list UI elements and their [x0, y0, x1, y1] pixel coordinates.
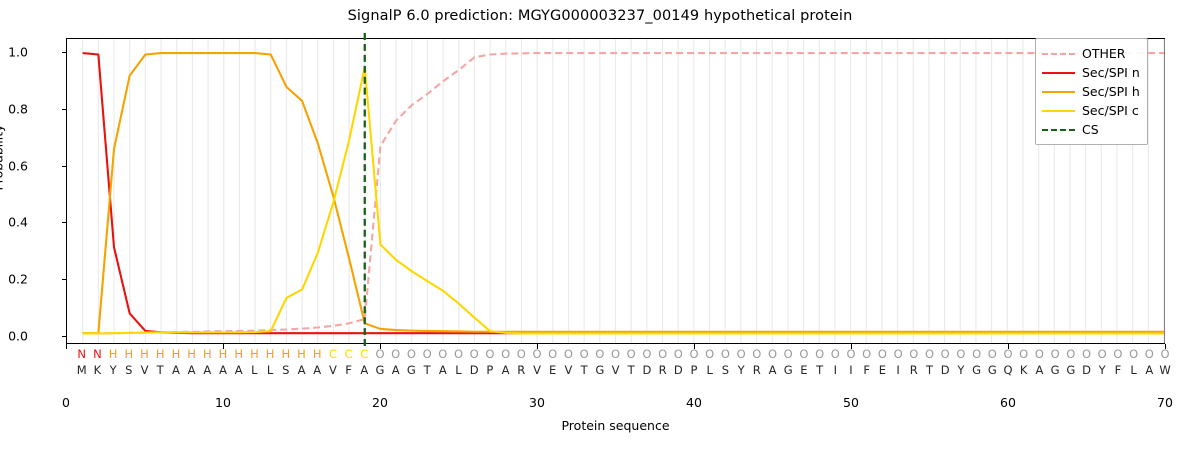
x-tick-label: 10 [215, 395, 231, 410]
region-marker: C [329, 347, 337, 361]
legend-label: CS [1082, 122, 1099, 137]
region-marker: N [77, 347, 86, 361]
y-tick-label: 0.6 [0, 158, 28, 173]
region-marker: O [705, 347, 714, 361]
amino-acid-sequence-row: MKYSVTAAAAALLSAAVFAGAGTALDPARVEVTGVTDRDP… [66, 363, 1165, 378]
sequence-residue: V [612, 363, 620, 377]
y-tick-label: 1.0 [0, 45, 28, 60]
sequence-residue: D [941, 363, 950, 377]
region-marker: O [391, 347, 400, 361]
sequence-residue: L [455, 363, 461, 377]
sequence-residue: Y [110, 363, 117, 377]
region-marker: O [721, 347, 730, 361]
legend-label: Sec/SPI n [1082, 65, 1140, 80]
series-line-sec-spi-c [83, 67, 1164, 333]
sequence-residue: K [94, 363, 102, 377]
legend-item-sec-spi-h[interactable]: Sec/SPI h [1042, 82, 1140, 101]
region-annotation-row: NNHHHHHHHHHHHHHHCCCOOOOOOOOOOOOOOOOOOOOO… [66, 347, 1165, 362]
series-line-sec-spi-h [83, 53, 1164, 333]
sequence-residue: G [972, 363, 981, 377]
region-marker: O [375, 347, 384, 361]
region-marker: O [768, 347, 777, 361]
sequence-residue: A [219, 363, 227, 377]
region-marker: O [564, 347, 573, 361]
sequence-residue: F [1115, 363, 1122, 377]
region-marker: O [1003, 347, 1012, 361]
sequence-residue: L [267, 363, 273, 377]
region-marker: O [470, 347, 479, 361]
sequence-residue: T [157, 363, 164, 377]
region-marker: O [485, 347, 494, 361]
region-marker: H [234, 347, 243, 361]
region-marker: H [281, 347, 290, 361]
signalp-prediction-figure: SignalP 6.0 prediction: MGYG000003237_00… [0, 0, 1200, 450]
sequence-residue: I [896, 363, 899, 377]
region-marker: O [956, 347, 965, 361]
region-marker: O [737, 347, 746, 361]
sequence-residue: A [392, 363, 400, 377]
sequence-residue: A [298, 363, 306, 377]
region-marker: O [972, 347, 981, 361]
y-tick-label: 0.2 [0, 271, 28, 286]
sequence-residue: T [926, 363, 933, 377]
y-tick-mark [62, 109, 67, 110]
sequence-residue: D [642, 363, 651, 377]
region-marker: H [187, 347, 196, 361]
sequence-residue: D [1082, 363, 1091, 377]
region-marker: O [689, 347, 698, 361]
sequence-residue: M [77, 363, 87, 377]
sequence-residue: A [172, 363, 180, 377]
region-marker: O [674, 347, 683, 361]
region-marker: O [988, 347, 997, 361]
y-tick-mark [62, 279, 67, 280]
region-marker: O [878, 347, 887, 361]
region-marker: O [941, 347, 950, 361]
sequence-residue: Y [738, 363, 745, 377]
x-tick-label: 30 [529, 395, 545, 410]
legend-item-sec-spi-c[interactable]: Sec/SPI c [1042, 101, 1140, 120]
series-lines [67, 39, 1164, 343]
region-marker: O [846, 347, 855, 361]
region-marker: O [909, 347, 918, 361]
region-marker: O [438, 347, 447, 361]
sequence-residue: V [329, 363, 337, 377]
sequence-residue: Q [1003, 363, 1012, 377]
region-marker: O [1066, 347, 1075, 361]
region-marker: C [360, 347, 368, 361]
sequence-residue: A [439, 363, 447, 377]
y-tick-label: 0.0 [0, 328, 28, 343]
sequence-residue: S [125, 363, 132, 377]
sequence-residue: G [595, 363, 604, 377]
region-marker: H [250, 347, 259, 361]
y-tick-label: 0.8 [0, 101, 28, 116]
region-marker: H [313, 347, 322, 361]
sequence-residue: W [1159, 363, 1170, 377]
region-marker: H [124, 347, 133, 361]
legend-item-other[interactable]: OTHER [1042, 44, 1140, 63]
sequence-residue: P [486, 363, 493, 377]
sequence-residue: A [1145, 363, 1153, 377]
sequence-residue: E [549, 363, 556, 377]
region-marker: O [611, 347, 620, 361]
region-marker: O [454, 347, 463, 361]
legend-label: Sec/SPI c [1082, 103, 1139, 118]
region-marker: O [1082, 347, 1091, 361]
x-axis-label: Protein sequence [66, 418, 1165, 433]
region-marker: O [517, 347, 526, 361]
series-line-sec-spi-n [83, 53, 1164, 333]
sequence-residue: R [753, 363, 761, 377]
region-marker: O [1113, 347, 1122, 361]
sequence-residue: G [784, 363, 793, 377]
sequence-residue: A [769, 363, 777, 377]
sequence-residue: S [722, 363, 729, 377]
legend-swatch [1042, 86, 1075, 98]
sequence-residue: R [910, 363, 918, 377]
region-marker: O [925, 347, 934, 361]
region-marker: H [109, 347, 118, 361]
region-marker: O [831, 347, 840, 361]
legend-label: OTHER [1082, 46, 1125, 61]
x-tick-label: 0 [62, 395, 70, 410]
x-tick-label: 50 [843, 395, 859, 410]
sequence-residue: R [659, 363, 667, 377]
x-tick-label: 70 [1157, 395, 1173, 410]
region-marker: O [627, 347, 636, 361]
legend-swatch [1042, 67, 1075, 79]
sequence-residue: E [800, 363, 807, 377]
region-marker: O [1051, 347, 1060, 361]
sequence-residue: A [502, 363, 510, 377]
y-tick-mark [62, 52, 67, 53]
region-marker: O [1129, 347, 1138, 361]
sequence-residue: G [1051, 363, 1060, 377]
sequence-residue: L [706, 363, 712, 377]
region-marker: O [407, 347, 416, 361]
sequence-residue: Y [1099, 363, 1106, 377]
sequence-residue: L [1130, 363, 1136, 377]
x-tick-label: 20 [372, 395, 388, 410]
sequence-residue: Y [957, 363, 964, 377]
sequence-residue: A [313, 363, 321, 377]
region-marker: N [93, 347, 102, 361]
region-marker: O [658, 347, 667, 361]
sequence-residue: I [834, 363, 837, 377]
region-marker: O [862, 347, 871, 361]
sequence-residue: V [141, 363, 149, 377]
x-tick-label: 60 [1000, 395, 1016, 410]
region-marker: O [595, 347, 604, 361]
region-marker: O [642, 347, 651, 361]
legend: OTHERSec/SPI nSec/SPI hSec/SPI cCS [1035, 38, 1148, 145]
sequence-residue: R [517, 363, 525, 377]
sequence-residue: D [470, 363, 479, 377]
region-marker: O [752, 347, 761, 361]
region-marker: O [580, 347, 589, 361]
legend-swatch [1042, 48, 1075, 60]
region-marker: O [1098, 347, 1107, 361]
sequence-residue: F [345, 363, 352, 377]
region-marker: H [219, 347, 228, 361]
y-tick-mark [62, 336, 67, 337]
y-tick-mark [62, 166, 67, 167]
sequence-residue: S [282, 363, 289, 377]
region-marker: O [548, 347, 557, 361]
page-title: SignalP 6.0 prediction: MGYG000003237_00… [0, 8, 1200, 24]
sequence-residue: L [251, 363, 257, 377]
sequence-residue: F [863, 363, 870, 377]
region-marker: O [1019, 347, 1028, 361]
region-marker: O [799, 347, 808, 361]
region-marker: H [203, 347, 212, 361]
sequence-residue: T [581, 363, 588, 377]
region-marker: O [784, 347, 793, 361]
sequence-residue: P [691, 363, 698, 377]
sequence-residue: V [533, 363, 541, 377]
sequence-residue: T [424, 363, 431, 377]
region-marker: H [172, 347, 181, 361]
region-marker: C [345, 347, 353, 361]
region-marker: H [140, 347, 149, 361]
y-tick-mark [62, 222, 67, 223]
sequence-residue: T [816, 363, 823, 377]
region-marker: O [1035, 347, 1044, 361]
series-line-other [83, 53, 1164, 333]
region-marker: H [156, 347, 165, 361]
region-marker: O [1145, 347, 1154, 361]
sequence-residue: A [235, 363, 243, 377]
sequence-residue: T [628, 363, 635, 377]
legend-label: Sec/SPI h [1082, 84, 1140, 99]
sequence-residue: V [564, 363, 572, 377]
region-marker: O [532, 347, 541, 361]
sequence-residue: E [879, 363, 886, 377]
sequence-residue: K [1020, 363, 1028, 377]
sequence-residue: G [988, 363, 997, 377]
sequence-residue: G [376, 363, 385, 377]
sequence-residue: A [188, 363, 196, 377]
sequence-residue: D [674, 363, 683, 377]
region-marker: O [501, 347, 510, 361]
sequence-residue: A [360, 363, 368, 377]
legend-item-sec-spi-n[interactable]: Sec/SPI n [1042, 63, 1140, 82]
legend-item-cs[interactable]: CS [1042, 120, 1140, 139]
region-marker: H [266, 347, 275, 361]
sequence-residue: A [1035, 363, 1043, 377]
legend-swatch [1042, 124, 1075, 136]
sequence-residue: A [203, 363, 211, 377]
region-marker: O [894, 347, 903, 361]
region-marker: O [1160, 347, 1169, 361]
plot-area [66, 38, 1165, 344]
legend-swatch [1042, 105, 1075, 117]
region-marker: H [297, 347, 306, 361]
sequence-residue: G [1066, 363, 1075, 377]
y-tick-label: 0.4 [0, 215, 28, 230]
region-marker: O [815, 347, 824, 361]
sequence-residue: G [407, 363, 416, 377]
region-marker: O [423, 347, 432, 361]
x-tick-label: 40 [686, 395, 702, 410]
sequence-residue: I [849, 363, 852, 377]
